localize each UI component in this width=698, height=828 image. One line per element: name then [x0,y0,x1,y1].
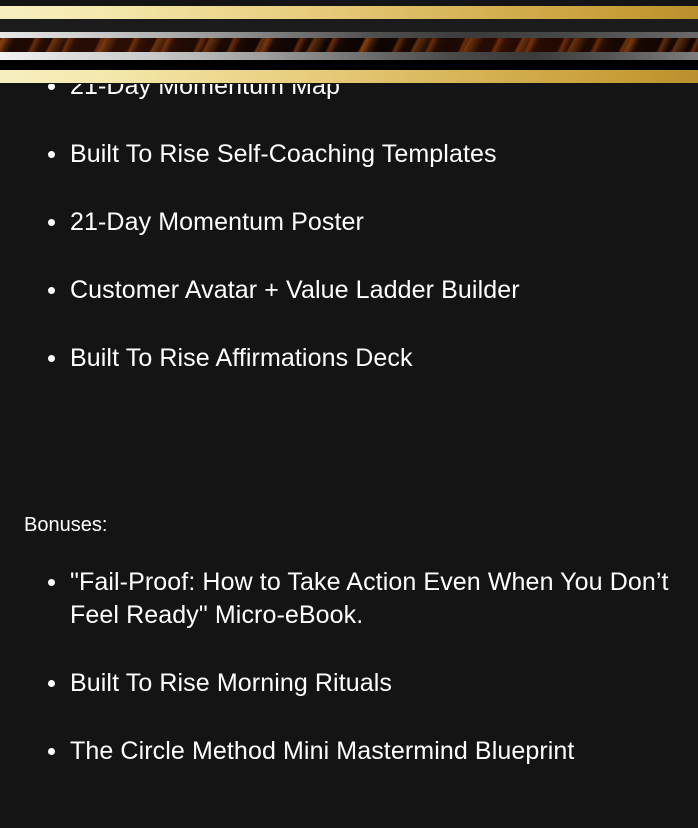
list-item: Built To Rise Affirmations Deck [0,342,698,375]
list-item-label: Customer Avatar + Value Ladder Builder [70,276,520,304]
middle-divider-band [0,0,698,84]
offer-stack-page: 21-Day Momentum Map Built To Rise Self-C… [0,0,698,828]
bonuses-list: "Fail-Proof: How to Take Action Even Whe… [0,566,698,768]
list-item-label: Built To Rise Self-Coaching Templates [70,140,497,168]
bullet-dot-icon [48,579,55,586]
list-item-label: The Circle Method Mini Mastermind Bluepr… [70,737,574,765]
black-gap-stripe [0,60,698,70]
list-item: "Fail-Proof: How to Take Action Even Whe… [0,566,698,632]
deliverables-list: 21-Day Momentum Map Built To Rise Self-C… [0,70,698,375]
deliverables-section: 21-Day Momentum Map Built To Rise Self-C… [0,46,698,398]
list-item: Customer Avatar + Value Ladder Builder [0,274,698,307]
silver-gradient-stripe [0,52,698,60]
bullet-dot-icon [48,680,55,687]
list-item-label: Built To Rise Morning Rituals [70,669,392,697]
dark-gap-stripe [0,19,698,32]
bullet-dot-icon [48,748,55,755]
bullet-dot-icon [48,83,55,90]
ember-texture-stripe [0,38,698,52]
list-item-label: Built To Rise Affirmations Deck [70,344,413,372]
band-edge-stripe [0,83,698,84]
bullet-dot-icon [48,219,55,226]
bonuses-heading: Bonuses: [0,512,698,538]
list-item: Built To Rise Self-Coaching Templates [0,138,698,171]
gold-gradient-stripe [0,6,698,19]
list-item: Built To Rise Morning Rituals [0,667,698,700]
bullet-dot-icon [48,287,55,294]
bonuses-section: Bonuses: "Fail-Proof: How to Take Action… [0,482,698,828]
bullet-dot-icon [48,355,55,362]
list-item-label: 21-Day Momentum Poster [70,208,364,236]
bullet-dot-icon [48,151,55,158]
list-item: The Circle Method Mini Mastermind Bluepr… [0,735,698,768]
gold-gradient-stripe [0,70,698,83]
list-item-label: "Fail-Proof: How to Take Action Even Whe… [70,568,669,629]
list-item: 21-Day Momentum Poster [0,206,698,239]
